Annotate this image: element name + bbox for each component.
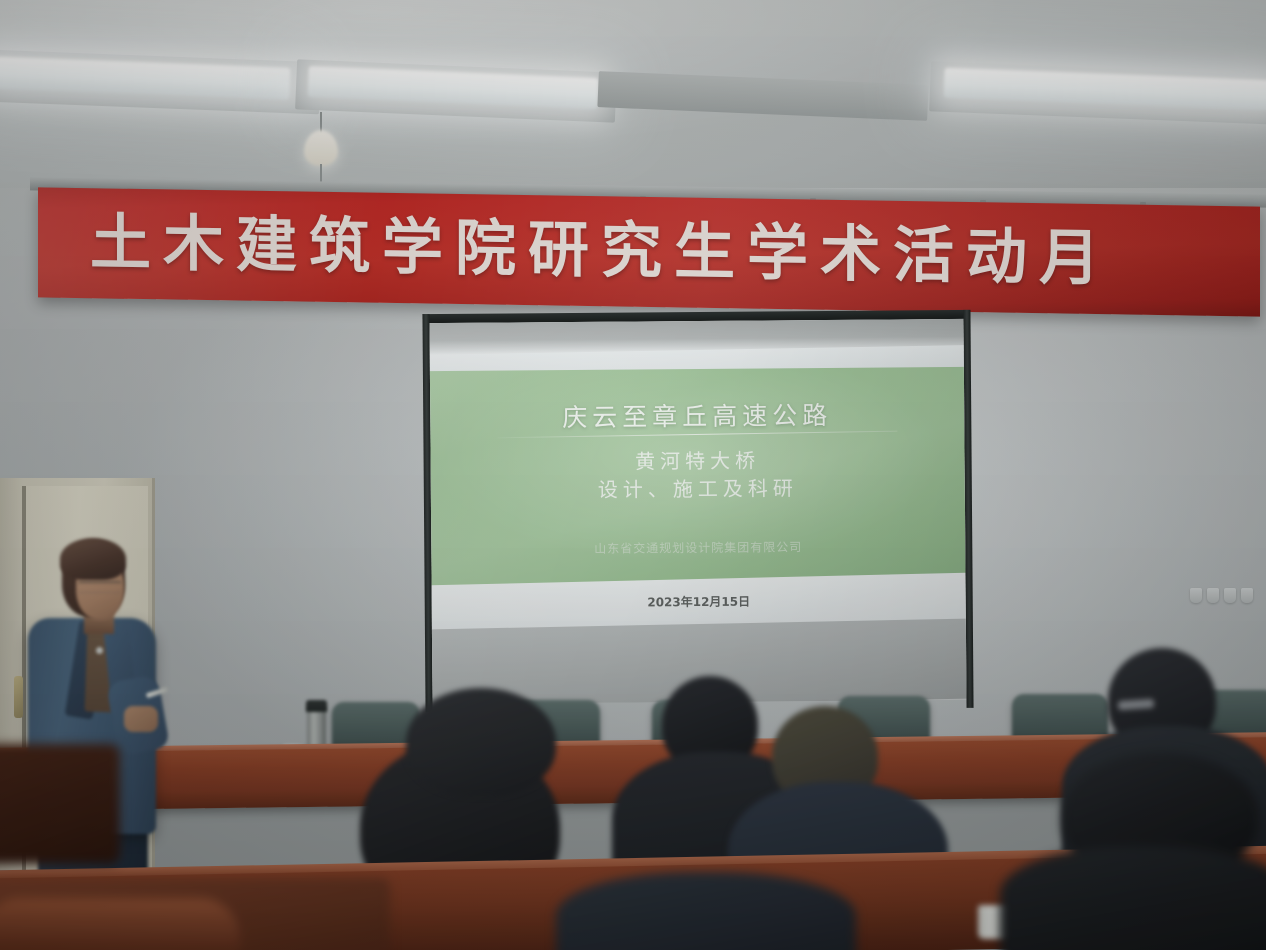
presenter-hair xyxy=(60,538,126,580)
slide-subtitle-line2: 设计、施工及科研 xyxy=(431,471,965,504)
slide-title: 庆云至章丘高速公路 xyxy=(430,395,964,435)
wall-hook xyxy=(1241,588,1253,603)
wall-hook xyxy=(1190,588,1202,603)
wall-hook-row xyxy=(1190,588,1260,604)
projection-screen: 庆云至章丘高速公路 黄河特大桥 设计、施工及科研 山东省交通规划设计院集团有限公… xyxy=(422,310,973,712)
foreground-shadow xyxy=(0,744,120,864)
presenter-hand xyxy=(124,706,158,732)
presenter-glasses xyxy=(78,581,122,593)
presentation-slide: 庆云至章丘高速公路 黄河特大桥 设计、施工及科研 山东省交通规划设计院集团有限公… xyxy=(430,319,967,704)
presenter-collar-button xyxy=(96,647,103,654)
pendant-lamp xyxy=(304,130,338,166)
screen-surface: 庆云至章丘高速公路 黄河特大桥 设计、施工及科研 山东省交通规划设计院集团有限公… xyxy=(430,319,967,704)
wall-hook xyxy=(1207,588,1219,603)
door-handle[interactable] xyxy=(14,676,23,718)
lecture-hall-photo: 土木建筑学院研究生学术活动月 庆云至章丘高速公路 黄河特大桥 设计、 xyxy=(0,0,1266,950)
thermos-cap xyxy=(306,700,327,712)
wall-hook xyxy=(1224,588,1236,603)
event-banner: 土木建筑学院研究生学术活动月 xyxy=(38,187,1260,316)
